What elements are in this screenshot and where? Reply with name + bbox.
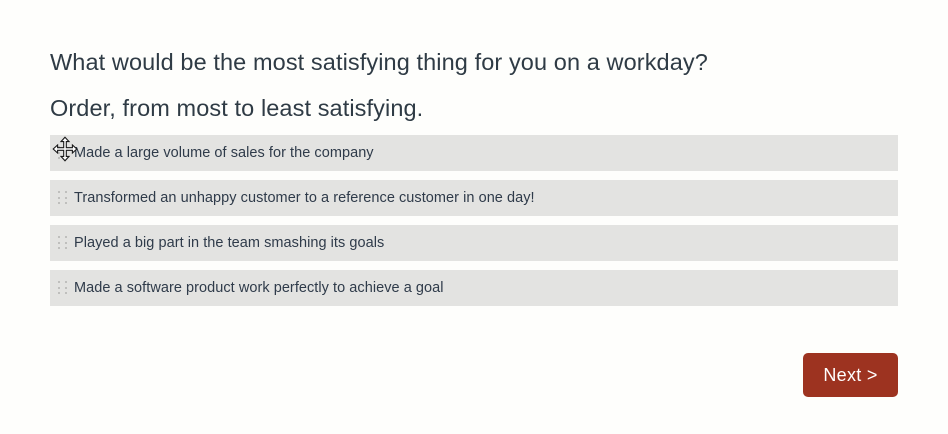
dot-grid [58,146,68,160]
list-item-label: Transformed an unhappy customer to a ref… [74,180,535,216]
list-item[interactable]: Made a software product work perfectly t… [50,270,898,306]
list-item-label: Made a large volume of sales for the com… [74,135,374,171]
list-item[interactable]: Made a large volume of sales for the com… [50,135,898,171]
drag-handle-icon[interactable] [52,270,74,306]
drag-handle-icon[interactable] [52,135,74,171]
list-item-label: Made a software product work perfectly t… [74,270,444,306]
list-item[interactable]: Played a big part in the team smashing i… [50,225,898,261]
dot-grid [58,236,68,250]
dot-grid [58,281,68,295]
ranking-list: Made a large volume of sales for the com… [50,135,898,306]
question-instruction: Order, from most to least satisfying. [50,90,900,126]
next-button[interactable]: Next > [803,353,898,397]
list-item-label: Played a big part in the team smashing i… [74,225,384,261]
drag-handle-icon[interactable] [52,225,74,261]
list-item[interactable]: Transformed an unhappy customer to a ref… [50,180,898,216]
question-block: What would be the most satisfying thing … [50,44,900,126]
dot-grid [58,191,68,205]
survey-page: What would be the most satisfying thing … [0,0,948,434]
question-prompt: What would be the most satisfying thing … [50,44,900,80]
drag-handle-icon[interactable] [52,180,74,216]
